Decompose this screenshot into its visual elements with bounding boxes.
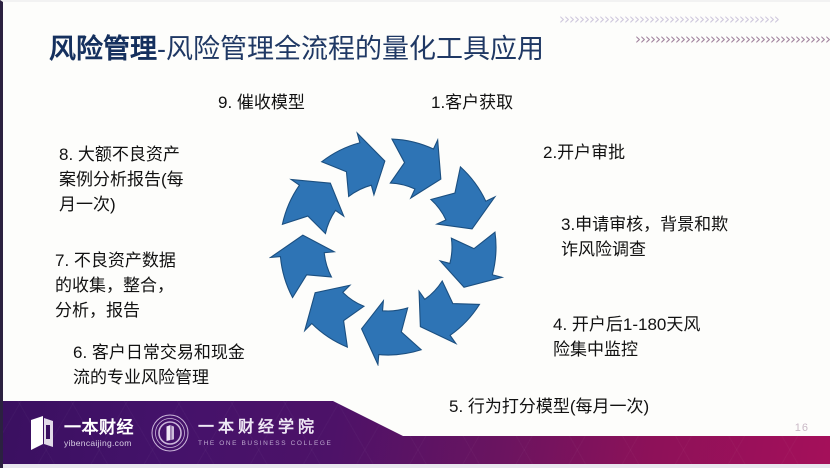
- cycle-arrows-graphic: [269, 128, 507, 366]
- cycle-step-label-8: 8. 大额不良资产 案例分析报告(每 月一次): [59, 142, 274, 217]
- footer-bar: 一本财经 yibencaijing.com 一本财经学院 THE ONE BUS…: [3, 396, 830, 468]
- page-title-strong: 风险管理: [49, 34, 157, 64]
- college-logo-text: 一本财经学院 THE ONE BUSINESS COLLEGE: [198, 418, 332, 449]
- cycle-ring: [270, 133, 502, 365]
- seal-icon: [151, 414, 189, 452]
- cycle-step-label-4: 4. 开户后1-180天风 险集中监控: [553, 312, 803, 362]
- cycle-arrow-segment: [282, 179, 343, 233]
- cycle-step-label-6: 6. 客户日常交易和现金 流的专业风险管理: [73, 340, 323, 390]
- brand-logo-college: 一本财经学院 THE ONE BUSINESS COLLEGE: [151, 414, 332, 452]
- cycle-step-label-7: 7. 不良资产数据 的收集，整合， 分析，报告: [55, 248, 265, 323]
- brand-url: yibencaijing.com: [64, 437, 134, 449]
- cycle-step-label-3: 3.申请审核，背景和欺 诈风险调查: [561, 212, 821, 262]
- cycle-arrow-segment: [305, 285, 364, 347]
- cycle-step-label-9: 9. 催收模型: [218, 90, 305, 115]
- cycle-arrow-segment: [390, 139, 440, 198]
- cycle-arrow-segment: [419, 281, 479, 344]
- page-title-rest: -风险管理全流程的量化工具应用: [157, 34, 544, 64]
- page-number: 16: [795, 422, 809, 434]
- brand-logo-text: 一本财经 yibencaijing.com: [64, 418, 134, 449]
- chevron-streak-a-glyphs: ››››››››››››››››››››››››››››››››››››››››…: [559, 12, 779, 26]
- slide-canvas: ››››››››››››››››››››››››››››››››››››››››…: [0, 0, 830, 468]
- footer-bottom-rule: [3, 464, 830, 468]
- college-name-en: THE ONE BUSINESS COLLEGE: [198, 438, 332, 449]
- chevron-streak-b-glyphs: ››››››››››››››››››››››››››››››››››››››››…: [635, 32, 830, 46]
- cycle-arrow-segment: [362, 301, 422, 365]
- cycle-arrow-segment: [270, 235, 334, 297]
- page-title: 风险管理-风险管理全流程的量化工具应用: [49, 32, 544, 66]
- cycle-step-label-2: 2.开户审批: [543, 140, 625, 165]
- book-mark-icon: [29, 416, 55, 450]
- chevron-streak-icon: ››››››››››››››››››››››››››››››››››››››››…: [559, 12, 819, 26]
- college-name: 一本财经学院: [198, 418, 332, 438]
- chevron-streak-icon-secondary: ››››››››››››››››››››››››››››››››››››››››…: [635, 32, 830, 46]
- brand-name: 一本财经: [64, 418, 134, 437]
- cycle-step-label-1: 1.客户获取: [431, 90, 513, 115]
- cycle-diagram: [269, 128, 507, 366]
- cycle-arrow-segment: [440, 232, 502, 287]
- brand-logo-yibencaijing: 一本财经 yibencaijing.com: [29, 416, 134, 450]
